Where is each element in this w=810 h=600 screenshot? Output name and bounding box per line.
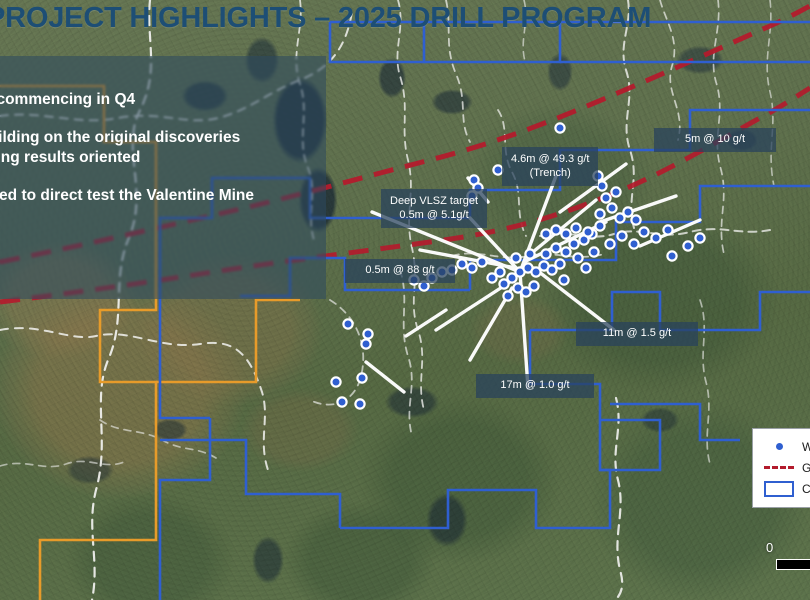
callout-05m-88gt-line1: 0.5m @ 88 g/t bbox=[354, 264, 446, 278]
callout-deep-vlsz: Deep VLSZ target 0.5m @ 5.1g/t bbox=[381, 189, 487, 228]
callout-5m-10gt: 5m @ 10 g/t bbox=[654, 128, 776, 152]
bullet-spacer bbox=[0, 111, 336, 128]
legend-label-gold-trend: Gol bbox=[796, 461, 810, 475]
slide-title: PROJECT HIGHLIGHTS – 2025 DRILL PROGRAM bbox=[0, 2, 651, 35]
callout-11m-15gt: 11m @ 1.5 g/t bbox=[576, 322, 698, 346]
legend-label-claims: Can bbox=[796, 482, 810, 496]
callout-trench: 4.6m @ 49.3 g/t (Trench) bbox=[502, 147, 598, 186]
legend-row-drill-holes: Wild bbox=[762, 436, 810, 457]
legend-row-claims: Can bbox=[762, 478, 810, 499]
legend-row-gold-trend: Gol bbox=[762, 457, 810, 478]
bullet-item-4: d bbox=[0, 206, 336, 227]
callout-deep-vlsz-line2: 0.5m @ 5.1g/t bbox=[390, 208, 478, 222]
slide-canvas: PROJECT HIGHLIGHTS – 2025 DRILL PROGRAM … bbox=[0, 0, 810, 600]
legend-label-drill-holes: Wild bbox=[796, 440, 810, 454]
callout-trench-line2: (Trench) bbox=[511, 166, 589, 180]
callout-17m-10gt: 17m @ 1.0 g/t bbox=[476, 374, 594, 398]
bullet-item-3: oriented to direct test the Valentine Mi… bbox=[0, 186, 336, 207]
blue-rectangle-icon bbox=[762, 481, 796, 497]
bullet-item-0: illing commencing in Q4 bbox=[0, 90, 336, 111]
bullet-item-1: ng building on the original discoveries bbox=[0, 128, 336, 149]
bullet-spacer bbox=[0, 169, 336, 186]
callout-11m-15gt-line1: 11m @ 1.5 g/t bbox=[585, 327, 689, 341]
scalebar-bar bbox=[776, 559, 810, 570]
callout-5m-10gt-line1: 5m @ 10 g/t bbox=[663, 133, 767, 147]
callout-trench-line1: 4.6m @ 49.3 g/t bbox=[511, 152, 589, 166]
scalebar-tick-label: 0 bbox=[766, 540, 773, 555]
red-dashed-line-icon bbox=[762, 466, 796, 469]
callout-deep-vlsz-line1: Deep VLSZ target bbox=[390, 194, 478, 208]
callout-05m-88gt: 0.5m @ 88 g/t bbox=[345, 259, 455, 283]
callout-17m-10gt-line1: 17m @ 1.0 g/t bbox=[485, 379, 585, 393]
map-legend: Wild Gol Can bbox=[752, 428, 810, 508]
bullet-item-2: specting results oriented bbox=[0, 148, 336, 169]
blue-dot-icon bbox=[762, 443, 796, 450]
highlights-bullet-list: illing commencing in Q4 ng building on t… bbox=[0, 56, 336, 227]
